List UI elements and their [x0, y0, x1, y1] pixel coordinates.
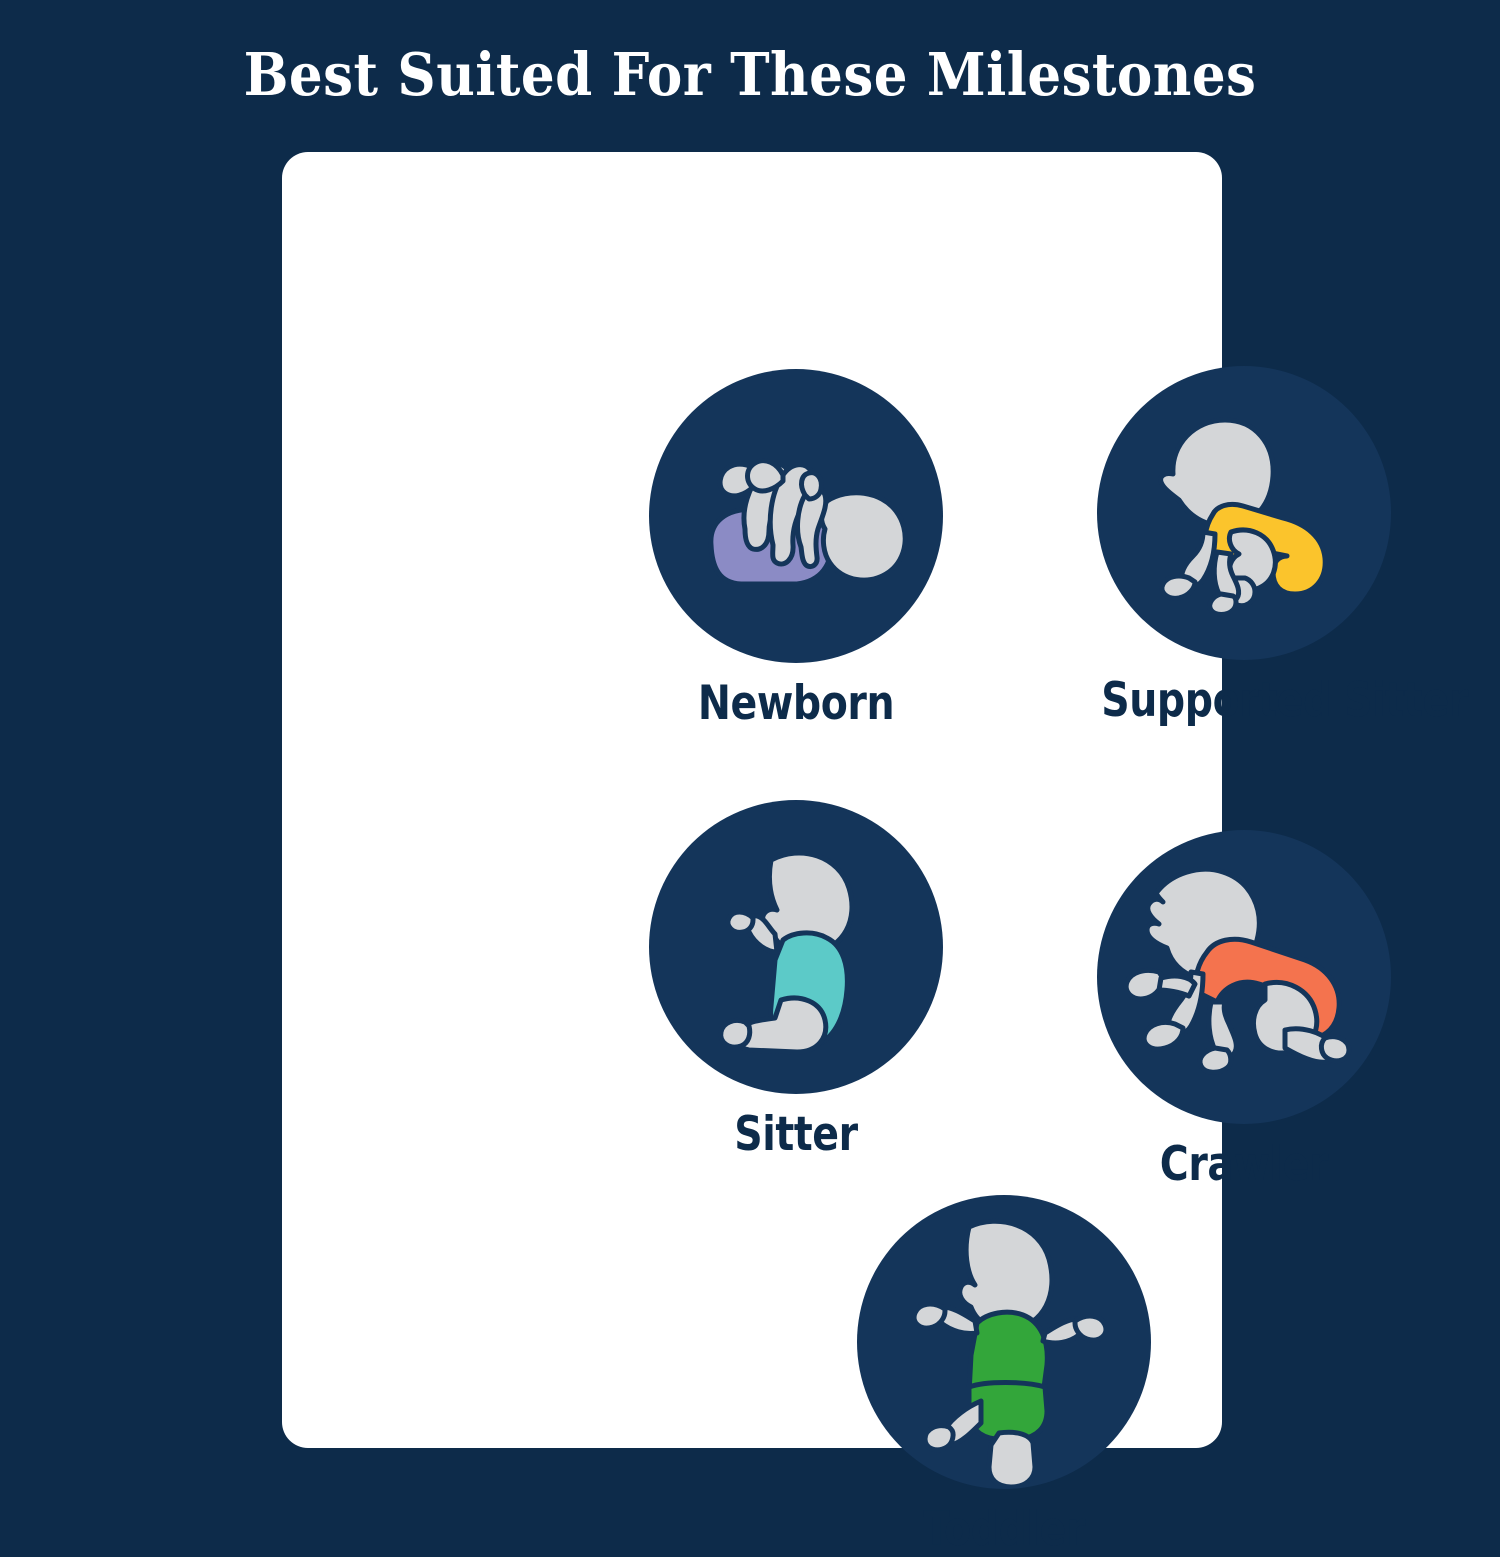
milestone-label-newborn: Newborn	[653, 679, 939, 730]
milestone-label-crawler: Crawler	[1101, 1140, 1387, 1191]
milestone-icon-circle-sitter	[649, 800, 943, 1094]
milestone-icon-circle-crawler	[1097, 830, 1391, 1124]
milestone-icon-circle-supported-sitter	[1097, 366, 1391, 660]
baby-sitting-up-icon	[649, 800, 943, 1094]
milestone-icon-circle-toddler	[857, 1195, 1151, 1489]
page-title: Best Suited For These Milestones	[75, 44, 1425, 106]
milestone-item-crawler[interactable]: Crawler	[1074, 830, 1414, 1191]
milestone-label-toddler: Toddler	[861, 1505, 1147, 1556]
milestone-item-newborn[interactable]: Newborn	[626, 369, 966, 730]
baby-crawling-icon	[1097, 830, 1391, 1124]
milestone-label-supported-sitter: Supported Sitter	[1101, 676, 1387, 727]
milestone-item-toddler[interactable]: Toddler	[834, 1195, 1174, 1556]
baby-on-hands-and-knees-icon	[1097, 366, 1391, 660]
milestone-item-sitter[interactable]: Sitter	[626, 800, 966, 1161]
milestones-card: Newborn	[282, 152, 1222, 1448]
baby-lying-on-back-icon	[649, 369, 943, 663]
milestone-icon-circle-newborn	[649, 369, 943, 663]
milestone-label-sitter: Sitter	[653, 1110, 939, 1161]
milestone-item-supported-sitter[interactable]: Supported Sitter	[1074, 366, 1414, 727]
toddler-walking-icon	[857, 1195, 1151, 1489]
